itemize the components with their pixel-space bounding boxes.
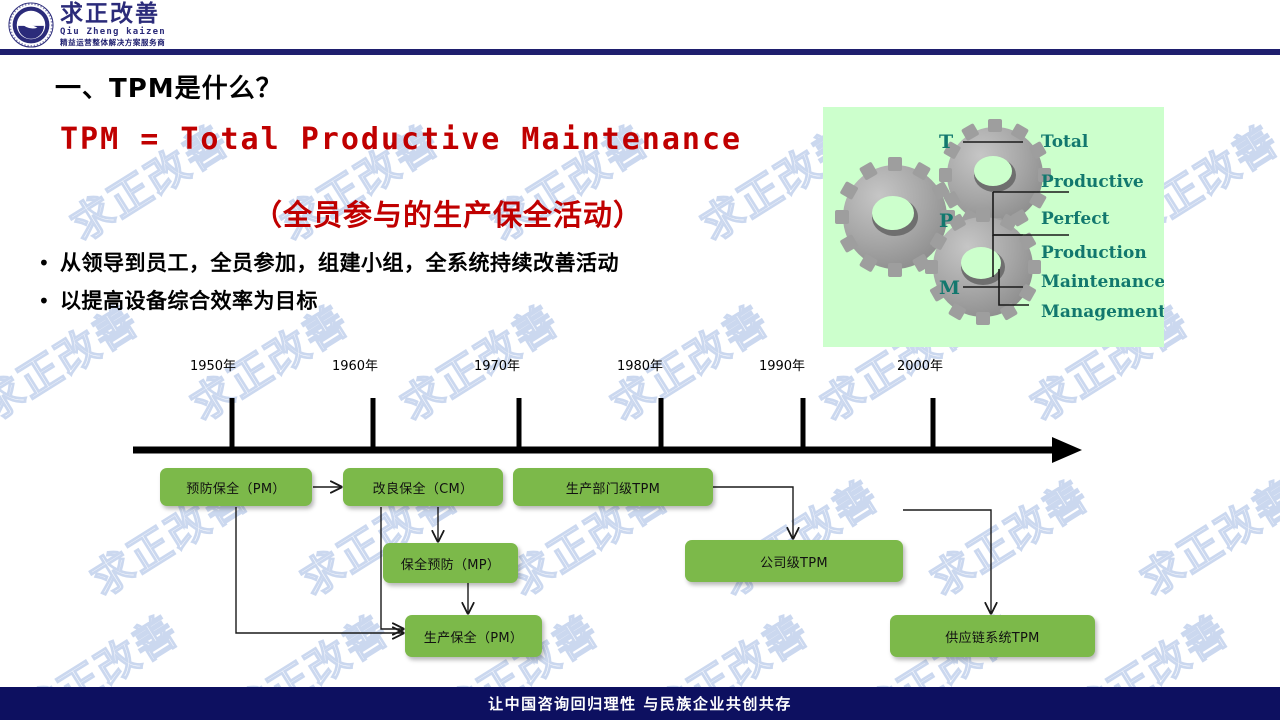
brand-name-cn: 求正改善 xyxy=(60,3,166,26)
tpm-gears-illustration: T P M Total Productive Perfect Productio… xyxy=(823,107,1164,347)
header-divider xyxy=(0,49,1280,55)
slide-header: 求正改善 Qiu Zheng kaizen 精益运营整体解决方案服务商 xyxy=(0,0,1280,50)
gear-label-5: Management xyxy=(1041,302,1164,322)
gear-label-3: Production xyxy=(1041,243,1147,263)
timeline-year-label: 1960年 xyxy=(332,355,378,374)
brand-logo: 求正改善 Qiu Zheng kaizen 精益运营整体解决方案服务商 xyxy=(8,0,166,50)
gear-letter-p: P xyxy=(939,210,953,232)
gear-label-2: Perfect xyxy=(1041,209,1110,229)
timeline-year-label: 2000年 xyxy=(897,355,943,374)
timeline-year-label: 1950年 xyxy=(190,355,236,374)
bullet-text: 以提高设备综合效率为目标 xyxy=(60,286,318,316)
gears-graphic-icon: T P M Total Productive Perfect Productio… xyxy=(823,107,1164,347)
timeline-year-label: 1980年 xyxy=(617,355,663,374)
page-title: 一、TPM是什么？ xyxy=(55,68,283,105)
bullet-marker-icon: • xyxy=(38,286,60,316)
flow-node-cm[interactable]: 改良保全（CM） xyxy=(343,468,503,506)
timeline-year-label: 1970年 xyxy=(474,355,520,374)
flow-node-supply[interactable]: 供应链系统TPM xyxy=(890,615,1095,657)
gear-letter-m: M xyxy=(939,277,960,299)
flow-node-pm[interactable]: 预防保全（PM） xyxy=(160,468,312,506)
tpm-evolution-flow: 预防保全（PM）改良保全（CM）生产部门级TPM保全预防（MP）公司级TPM生产… xyxy=(0,455,1280,680)
timeline-year-label: 1990年 xyxy=(759,355,805,374)
circular-seal-logo-icon xyxy=(8,2,54,48)
gear-label-4: Maintenance xyxy=(1041,272,1164,292)
slide-footer: 让中国咨询回归理性 与民族企业共创共存 xyxy=(0,687,1280,720)
bullet-item: •从领导到员工，全员参加，组建小组，全系统持续改善活动 xyxy=(38,248,828,278)
bullet-marker-icon: • xyxy=(38,248,60,278)
brand-logo-text: 求正改善 Qiu Zheng kaizen 精益运营整体解决方案服务商 xyxy=(60,3,166,47)
gear-label-0: Total xyxy=(1041,132,1089,152)
gear-letter-t: T xyxy=(939,131,953,153)
bullet-list: •从领导到员工，全员参加，组建小组，全系统持续改善活动•以提高设备综合效率为目标 xyxy=(38,248,828,324)
brand-slogan: 精益运营整体解决方案服务商 xyxy=(60,39,166,47)
tpm-subtitle-cn: （全员参与的生产保全活动） xyxy=(253,192,643,234)
bullet-text: 从领导到员工，全员参加，组建小组，全系统持续改善活动 xyxy=(60,248,619,278)
bullet-item: •以提高设备综合效率为目标 xyxy=(38,286,828,316)
brand-name-pinyin: Qiu Zheng kaizen xyxy=(60,28,166,37)
tpm-formula: TPM = Total Productive Maintenance xyxy=(60,122,742,157)
flow-node-mp[interactable]: 保全预防（MP） xyxy=(383,543,518,583)
footer-slogan: 让中国咨询回归理性 与民族企业共创共存 xyxy=(488,693,792,714)
flow-node-prod[interactable]: 生产保全（PM） xyxy=(405,615,542,657)
flow-node-company[interactable]: 公司级TPM xyxy=(685,540,903,582)
slide-canvas: 求正改善求正改善求正改善求正改善求正改善求正改善求正改善求正改善求正改善求正改善… xyxy=(0,0,1280,720)
flow-node-dept[interactable]: 生产部门级TPM xyxy=(513,468,713,506)
gear-label-1: Productive xyxy=(1041,172,1144,192)
